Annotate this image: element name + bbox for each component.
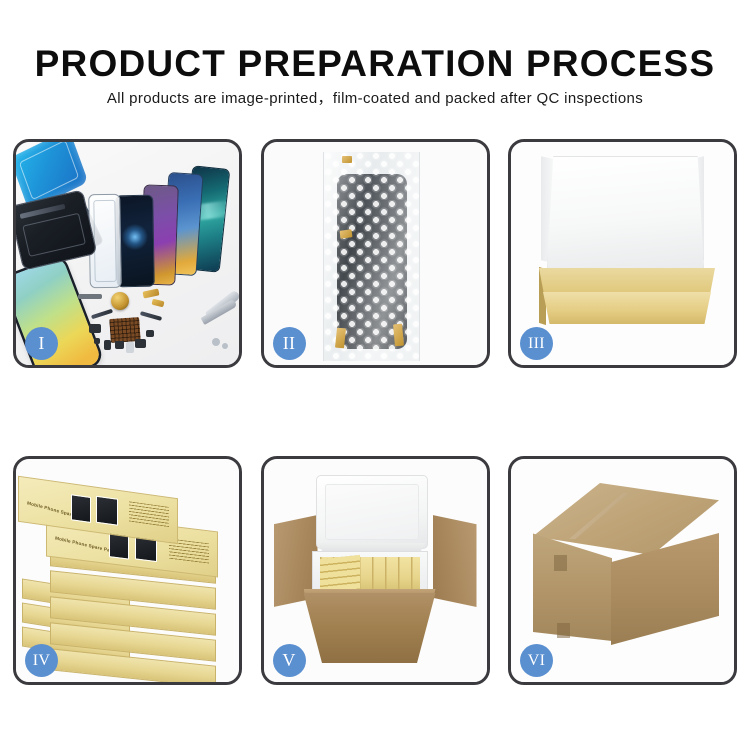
step-badge-2: II <box>273 327 306 360</box>
small-part-2 <box>115 341 124 349</box>
page-subtitle: All products are image-printed，film-coat… <box>0 89 750 109</box>
box-label-front: Mobile Phone Spare Parts <box>55 535 117 554</box>
bubble-wrap-bag <box>323 152 420 361</box>
page-title: PRODUCT PREPARATION PROCESS <box>0 42 750 86</box>
dark-screen-phone <box>116 196 154 287</box>
tape-bottom-left <box>334 328 345 349</box>
white-inner-lid <box>547 156 704 270</box>
speaker-part <box>111 292 129 310</box>
step-badge-6: VI <box>520 644 553 677</box>
phone-back-cover <box>16 190 96 269</box>
small-part-5 <box>146 330 154 337</box>
step-badge-1: I <box>25 327 58 360</box>
small-part-1 <box>104 340 111 350</box>
camera-module-part <box>89 324 101 333</box>
process-step-card-1: I <box>13 139 242 368</box>
process-step-card-3: III <box>508 139 737 368</box>
carton-tab-upper <box>554 555 567 571</box>
carton-tab-lower <box>557 623 570 638</box>
tape-top <box>342 156 352 163</box>
tape-bottom-right <box>393 324 404 347</box>
box-window-back-2 <box>96 496 118 526</box>
carton-body <box>304 593 436 663</box>
gold-connector-part <box>151 299 164 308</box>
process-step-card-4: Mobile Phone Spare Parts Mobile Phone Sp… <box>13 456 242 685</box>
step-badge-3: III <box>520 327 553 360</box>
box-window-back-1 <box>71 494 91 523</box>
header: PRODUCT PREPARATION PROCESS All products… <box>0 0 750 125</box>
step-badge-5: V <box>273 644 306 677</box>
screw-part-2 <box>222 343 228 349</box>
bracket-part <box>78 294 102 299</box>
flex-cable-2 <box>140 311 162 321</box>
process-step-card-5: V <box>261 456 490 685</box>
box-spec-lines-back <box>129 501 169 529</box>
screw-part-1 <box>212 338 220 346</box>
step-badge-4: IV <box>25 644 58 677</box>
product-preparation-infographic: PRODUCT PREPARATION PROCESS All products… <box>0 0 750 750</box>
carton-flap-right <box>433 515 477 607</box>
process-step-grid: I II <box>13 139 737 685</box>
sim-tray-part <box>126 342 134 353</box>
gold-flex-part <box>142 288 159 298</box>
foam-lid <box>316 475 428 549</box>
process-step-card-6: VI <box>508 456 737 685</box>
flex-cable-1 <box>91 309 113 320</box>
process-step-card-2: II <box>261 139 490 368</box>
small-part-3 <box>135 339 146 348</box>
kraft-tray-front <box>543 292 711 324</box>
tape-middle <box>339 229 352 239</box>
small-part-4 <box>94 338 100 344</box>
